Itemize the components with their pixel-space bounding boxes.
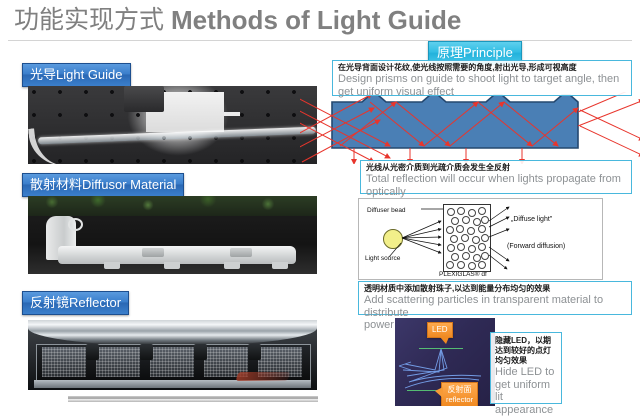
callout-reflector-en: reflector [446,395,473,405]
reflector-facet [150,347,194,377]
page-title-english: Methods of Light Guide [171,5,461,35]
led-note-block: 隐藏LED，以期 达到较好的点灯 均匀效果 Hide LED to get un… [490,332,562,404]
light-guide-prism-bar [332,95,578,148]
light-guide-rod [32,114,316,154]
fixture-bracket [124,86,164,112]
page-title-chinese: 功能实现方式 [14,5,164,35]
led-note-en-2: get uniform lit [495,379,557,404]
reflector-base-rail [34,380,311,388]
principle-text-block-2: 光线从光密介质到光疏介质会发生全反射 Total reflection will… [360,160,632,194]
reflector-facet [42,347,86,377]
callout-reflector: 反射面 reflector [441,382,478,406]
rod-glint [224,112,240,116]
principle-text-1-cn: 在光导背面设计花纹,使光线按照需要的角度,射出光导,形成可视高度 [338,63,627,73]
reflector-red-marking [236,372,291,381]
part-foot [164,262,180,269]
part-foot [272,262,288,269]
led-reflector-render: LED 反射面 reflector [395,318,495,406]
tag-principle-cn: 原理 [437,45,463,60]
tag-reflector[interactable]: 反射镜Reflector [22,291,129,315]
principle-text-3-en-line1: Add scattering particles in transparent … [364,294,627,319]
reflector-facet [96,347,140,377]
principle-text-1-en-line1: Design prisms on guide to shoot light to… [338,73,627,86]
prism-ray-svg [300,92,640,164]
part-mounting-ring [68,218,83,231]
background-foliage [28,196,317,216]
prism-ray-diagram [300,92,640,164]
tag-light-guide-en: Light Guide [56,67,123,82]
principle-text-3-cn: 透明材质中添加散射珠子,以达到能量分布均匀的效果 [364,284,627,294]
tag-principle-en: Principle [463,45,513,60]
part-foot [104,262,120,269]
led-module [86,344,99,360]
bottom-divider-bar [68,396,318,402]
tag-reflector-cn: 反射镜 [30,295,69,310]
callout-reflector-cn: 反射面 [448,385,472,394]
diffusor-schematic: Diffuser bead Light source „Diffuse ligh… [358,198,603,280]
led-note-cn-1: 隐藏LED，以期 [495,336,557,346]
tag-light-guide-cn: 光导 [30,67,56,82]
principle-text-2-en-line1: Total reflection will occur when lights … [366,173,627,198]
page-title: 功能实现方式 Methods of Light Guide [14,2,574,38]
photo-light-guide [28,86,317,164]
part-foot [224,262,240,269]
outgoing-right-rays [578,92,640,156]
led-note-en-1: Hide LED to [495,366,557,379]
led-module [248,344,261,360]
principle-text-block-3: 透明材质中添加散射珠子,以达到能量分布均匀的效果 Add scattering … [358,281,632,315]
tag-diffusor-en: Diffusor Material [82,177,176,192]
photo-reflector [28,320,317,390]
tag-light-guide[interactable]: 光导Light Guide [22,63,131,87]
part-clip-tab [230,248,252,257]
led-module [140,344,153,360]
led-note-cn-3: 均匀效果 [495,356,557,366]
part-clip-tab [142,248,164,257]
principle-text-2-cn: 光线从光密介质到光疏介质会发生全反射 [366,163,627,173]
diffusor-ray-svg [359,199,602,279]
led-note-en-3: appearance [495,404,557,416]
callout-led: LED [427,322,453,338]
principle-text-1-en-line2: get uniform visual effect [338,86,627,99]
led-note-cn-2: 达到较好的点灯 [495,346,557,356]
tag-reflector-en: Reflector [69,295,121,310]
led-module [194,344,207,360]
chrome-bezel [28,320,317,346]
slide-canvas: 功能实现方式 Methods of Light Guide 光导Light Gu… [0,0,640,409]
diffusor-part-body [46,216,296,264]
callout-led-label: LED [432,325,448,334]
photo-diffusor-part [28,196,317,274]
title-divider [8,40,632,41]
principle-text-block-1: 在光导背面设计花纹,使光线按照需要的角度,射出光导,形成可视高度 Design … [332,60,632,96]
tag-diffusor-cn: 散射材料 [30,177,82,192]
tag-diffusor-material[interactable]: 散射材料Diffusor Material [22,173,184,197]
